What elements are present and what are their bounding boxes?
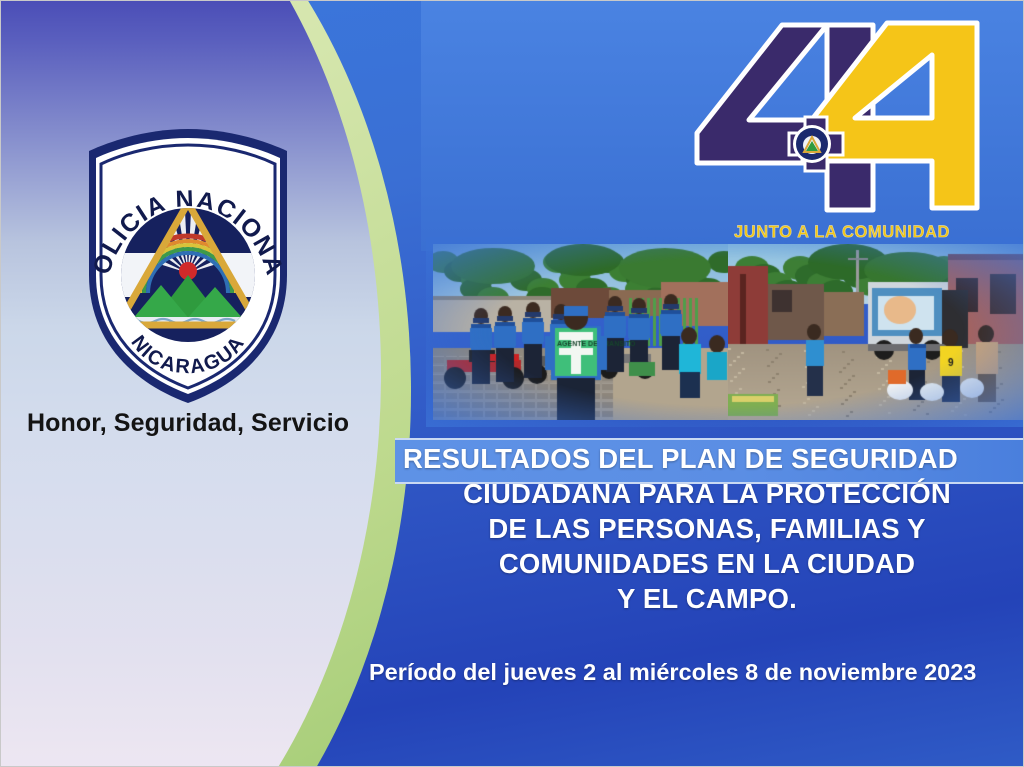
motto-text: Honor, Seguridad, Servicio bbox=[27, 409, 367, 438]
photo-community-truck bbox=[728, 244, 1023, 420]
title-line-3: DE LAS PERSONAS, FAMILIAS Y bbox=[395, 511, 1019, 546]
presentation-slide: POLICIA NACIONAL NICARAGUA bbox=[0, 0, 1024, 767]
slide-title: RESULTADOS DEL PLAN DE SEGURIDAD CIUDADA… bbox=[395, 441, 1019, 616]
title-line-4: COMUNIDADES EN LA CIUDAD bbox=[395, 546, 1019, 581]
title-line-1: RESULTADOS DEL PLAN DE SEGURIDAD bbox=[395, 441, 1019, 476]
police-shield-emblem: POLICIA NACIONAL NICARAGUA bbox=[75, 125, 301, 407]
photo-police-motorcycles bbox=[433, 244, 728, 420]
title-line-5: Y EL CAMPO. bbox=[395, 581, 1019, 616]
photo-strip bbox=[433, 244, 1023, 420]
period-text: Período del jueves 2 al miércoles 8 de n… bbox=[369, 659, 1024, 686]
title-line-2: CIUDADANA PARA LA PROTECCIÓN bbox=[395, 476, 1019, 511]
anniversary-slogan-line1: JUNTO A LA COMUNIDAD bbox=[734, 222, 950, 241]
anniversary-44-logo: JUNTO A LA COMUNIDAD COMPROMETIDOS CON T… bbox=[677, 15, 1007, 250]
